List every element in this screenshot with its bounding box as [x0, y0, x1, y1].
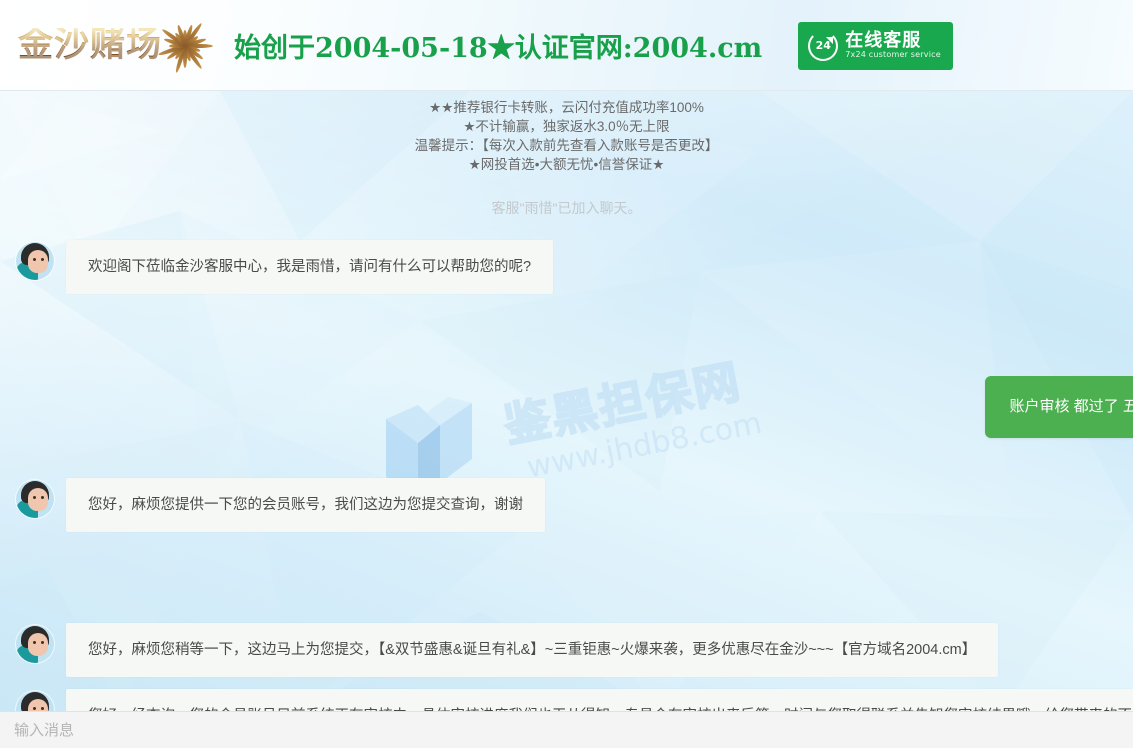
- service-icon-label: 24: [816, 39, 831, 52]
- message-row: 您好，经查询，您的会员账号目前系统正在审核中，具体审核进度我们也无从得知，专员会…: [0, 689, 1133, 711]
- message-row: 您好，麻烦您提供一下您的会员账号，我们这边为您提交查询，谢谢: [0, 478, 1133, 532]
- chat-page: 金沙赌场 始创于2004-05-18★认证官网:2004.cm 24 在线客服 …: [0, 0, 1133, 748]
- message-input-bar[interactable]: [0, 711, 1133, 748]
- avatar: [16, 691, 54, 711]
- headset-24h-icon: 24: [808, 31, 838, 61]
- message-bubble: 您好，麻烦您提供一下您的会员账号，我们这边为您提交查询，谢谢: [66, 478, 545, 532]
- message-row: 欢迎阁下莅临金沙客服中心，我是雨惜，请问有什么可以帮助您的呢?: [0, 240, 1133, 294]
- avatar: [16, 242, 54, 280]
- online-service-button[interactable]: 24 在线客服 7x24 customer service: [798, 22, 953, 70]
- message-bubble: 欢迎阁下莅临金沙客服中心，我是雨惜，请问有什么可以帮助您的呢?: [66, 240, 553, 294]
- announcement-line: ★不计输赢，独家返水3.0％无上限: [0, 117, 1133, 136]
- avatar: [16, 480, 54, 518]
- message-bubble: 您好，经查询，您的会员账号目前系统正在审核中，具体审核进度我们也无从得知，专员会…: [66, 689, 1133, 711]
- message-bubble: 您好，麻烦您稍等一下，这边马上为您提交，【&双节盛惠&诞旦有礼&】~三重钜惠~火…: [66, 623, 998, 677]
- sunburst-icon: [156, 17, 214, 75]
- avatar: [16, 625, 54, 663]
- header-slogan: 始创于2004-05-18★认证官网:2004.cm: [234, 26, 762, 65]
- site-header: 金沙赌场 始创于2004-05-18★认证官网:2004.cm 24 在线客服 …: [0, 0, 1133, 91]
- service-badge-en: 7x24 customer service: [845, 50, 941, 60]
- announcement-line: ★网投首选•大额无忧•信誉保证★: [0, 155, 1133, 174]
- chat-scroll-area[interactable]: 鉴黑担保网 www.jhdb8.com ★★推荐银行卡转账，云闪付充值成功率10…: [0, 91, 1133, 711]
- site-logo[interactable]: 金沙赌场: [18, 16, 214, 76]
- announcement-line: ★★推荐银行卡转账，云闪付充值成功率100%: [0, 98, 1133, 117]
- announcement-banner: ★★推荐银行卡转账，云闪付充值成功率100% ★不计输赢，独家返水3.0％无上限…: [0, 91, 1133, 174]
- logo-text: 金沙赌场: [18, 28, 162, 63]
- message-list: 欢迎阁下莅临金沙客服中心，我是雨惜，请问有什么可以帮助您的呢? 账户审核 都过了…: [0, 240, 1133, 711]
- system-join-message: 客服"雨惜"已加入聊天。: [0, 198, 1133, 218]
- message-row: 账户审核 都过了 五天了 还: [0, 376, 1133, 438]
- message-bubble: 账户审核 都过了 五天了 还: [985, 376, 1133, 438]
- announcement-line: 温馨提示：【每次入款前先查看入款账号是否更改】: [0, 136, 1133, 155]
- message-input[interactable]: [14, 722, 1119, 739]
- service-badge-cn: 在线客服: [845, 31, 941, 50]
- message-row: 您好，麻烦您稍等一下，这边马上为您提交，【&双节盛惠&诞旦有礼&】~三重钜惠~火…: [0, 623, 1133, 677]
